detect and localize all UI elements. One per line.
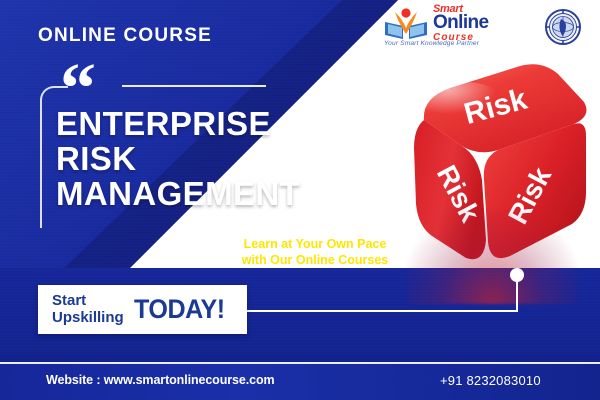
dice-reflection xyxy=(406,208,578,304)
logo-wordmark: Smart Online Course xyxy=(433,4,521,43)
brand-logo: Smart Online Course Your Smart Knowledge… xyxy=(383,4,518,48)
headline-line-2: RISK xyxy=(56,141,386,176)
subtitle-text: Learn at Your Own Pace with Our Online C… xyxy=(212,236,418,268)
cta-badge[interactable]: Start Upskilling TODAY! xyxy=(38,285,247,334)
page-title: ENTERPRISE RISK MANAGEMENT xyxy=(56,106,386,211)
cta-label: Start Upskilling xyxy=(52,292,124,326)
footer-phone[interactable]: +91 8232083010 xyxy=(440,373,541,388)
cta-line-2: Upskilling xyxy=(52,309,124,326)
decorative-rule xyxy=(122,85,266,87)
subtitle-line-1: Learn at Your Own Pace xyxy=(212,236,418,252)
logo-online-text: Online xyxy=(433,14,521,32)
subtitle-line-2: with Our Online Courses xyxy=(212,252,418,268)
connector-dot xyxy=(510,268,524,282)
book-person-icon xyxy=(383,8,429,42)
risk-dice-illustration: Risk Risk Risk xyxy=(392,58,592,288)
cta-emphasis: TODAY! xyxy=(134,296,225,323)
footer-website[interactable]: Website : www.smartonlinecourse.com xyxy=(46,373,275,387)
logo-tagline: Your Smart Knowledge Partner xyxy=(384,40,479,47)
accreditation-seal-icon xyxy=(545,9,581,45)
headline-line-1: ENTERPRISE xyxy=(56,106,386,141)
kicker-text: ONLINE COURSE xyxy=(38,25,212,47)
connector-vertical-line xyxy=(516,280,518,312)
headline-line-3: MANAGEMENT xyxy=(56,176,386,211)
cta-line-1: Start xyxy=(52,292,124,309)
course-promo-banner: Risk Risk Risk ONLINE COURSE Smart Onlin… xyxy=(0,0,600,400)
